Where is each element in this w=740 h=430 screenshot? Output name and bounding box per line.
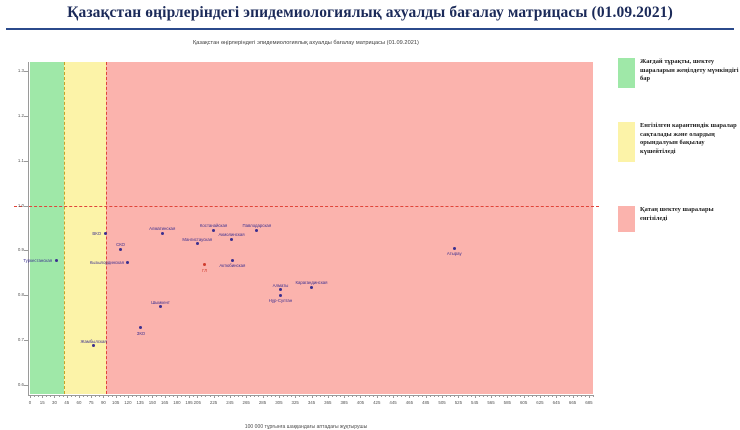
x-tick-minor	[495, 395, 496, 397]
y-tick-mark	[24, 295, 28, 296]
x-tick-minor	[499, 395, 500, 397]
x-tick-minor	[267, 395, 268, 397]
x-tick-minor	[291, 395, 292, 397]
x-tick-minor	[312, 395, 313, 397]
x-tick-minor	[389, 395, 390, 397]
x-tick-minor	[320, 395, 321, 397]
x-tick-label: 625	[531, 400, 549, 406]
x-tick-minor	[59, 395, 60, 397]
x-tick-minor	[573, 395, 574, 397]
x-tick-label: 685	[580, 400, 598, 406]
x-tick-minor	[340, 395, 341, 397]
x-tick-minor	[132, 395, 133, 397]
x-tick-minor	[214, 395, 215, 397]
x-tick-minor	[287, 395, 288, 397]
x-tick-minor	[385, 395, 386, 397]
x-tick-minor	[185, 395, 186, 397]
x-tick-minor	[205, 395, 206, 397]
x-tick-minor	[234, 395, 235, 397]
x-tick-minor	[71, 395, 72, 397]
x-tick-minor	[46, 395, 47, 397]
x-tick-minor	[79, 395, 80, 397]
x-tick-minor	[177, 395, 178, 397]
x-tick-minor	[193, 395, 194, 397]
legend-swatch-green	[618, 58, 635, 88]
x-tick-minor	[250, 395, 251, 397]
x-tick-minor	[307, 395, 308, 397]
x-tick-minor	[263, 395, 264, 397]
x-tick-minor	[161, 395, 162, 397]
y-tick-label: 1.1	[6, 158, 24, 164]
x-tick-minor	[409, 395, 410, 397]
y-tick-mark	[24, 250, 28, 251]
x-tick-minor	[479, 395, 480, 397]
page-title: Қазақстан өңірлеріндегі эпидемиологиялық…	[0, 4, 740, 22]
legend-swatch-yellow	[618, 122, 635, 162]
x-tick-minor	[303, 395, 304, 397]
y-tick-mark	[24, 340, 28, 341]
x-tick-minor	[156, 395, 157, 397]
x-tick-minor	[356, 395, 357, 397]
x-tick-minor	[63, 395, 64, 397]
y-tick-mark	[24, 385, 28, 386]
legend-item-green: Жағдай тұрақты, шектеу шараларын жеңілде…	[618, 58, 740, 88]
data-point-label: Алматинская	[149, 226, 175, 231]
x-tick-minor	[336, 395, 337, 397]
data-point-label: ЗКО	[137, 331, 145, 336]
data-point-label: ГЛ	[202, 268, 207, 273]
band-yellow-zone	[64, 62, 106, 394]
x-tick-label: 285	[254, 400, 272, 406]
x-tick-minor	[430, 395, 431, 397]
y-axis-line	[28, 62, 29, 396]
y-tick-mark	[24, 161, 28, 162]
x-tick-label: 565	[482, 400, 500, 406]
x-tick-minor	[348, 395, 349, 397]
x-tick-minor	[124, 395, 125, 397]
legend-item-red: Қатаң шектеу шаралары енгізіледі	[618, 206, 740, 232]
legend: Жағдай тұрақты, шектеу шараларын жеңілде…	[614, 34, 740, 407]
x-tick-minor	[491, 395, 492, 397]
x-tick-minor	[462, 395, 463, 397]
x-tick-minor	[381, 395, 382, 397]
x-tick-label: 305	[270, 400, 288, 406]
x-tick-minor	[165, 395, 166, 397]
x-tick-label: 445	[384, 400, 402, 406]
x-tick-minor	[536, 395, 537, 397]
x-tick-label: 365	[319, 400, 337, 406]
x-tick-minor	[238, 395, 239, 397]
x-tick-minor	[405, 395, 406, 397]
x-tick-minor	[360, 395, 361, 397]
x-tick-minor	[397, 395, 398, 397]
x-tick-minor	[377, 395, 378, 397]
x-tick-minor	[152, 395, 153, 397]
x-tick-minor	[585, 395, 586, 397]
chart-container: Қазақстан өңірлеріндегі эпидемиологиялық…	[0, 34, 612, 407]
x-tick-minor	[467, 395, 468, 397]
data-point[interactable]	[453, 247, 456, 250]
x-tick-minor	[324, 395, 325, 397]
data-point-label: Павлодарская	[243, 223, 272, 228]
data-point[interactable]	[196, 242, 199, 245]
x-tick-minor	[136, 395, 137, 397]
x-tick-minor	[556, 395, 557, 397]
x-tick-label: 245	[221, 400, 239, 406]
data-point-label: Актюбинская	[219, 263, 245, 268]
x-tick-minor	[279, 395, 280, 397]
x-tick-minor	[112, 395, 113, 397]
x-tick-minor	[422, 395, 423, 397]
x-tick-minor	[507, 395, 508, 397]
data-point[interactable]	[104, 232, 107, 235]
x-tick-minor	[458, 395, 459, 397]
x-tick-minor	[210, 395, 211, 397]
x-tick-minor	[242, 395, 243, 397]
x-tick-label: 525	[449, 400, 467, 406]
x-tick-label: 325	[286, 400, 304, 406]
x-tick-minor	[140, 395, 141, 397]
plot-area: ТуркестанскаяЖамбылскаяВКОСКОКызылординс…	[30, 62, 593, 394]
x-tick-minor	[450, 395, 451, 397]
data-point-label: Кызылординская	[90, 260, 124, 265]
x-tick-minor	[116, 395, 117, 397]
x-tick-minor	[528, 395, 529, 397]
x-tick-minor	[434, 395, 435, 397]
y-tick-label: 0.6	[6, 382, 24, 388]
data-point-label: Костанайская	[200, 223, 227, 228]
x-tick-minor	[373, 395, 374, 397]
x-tick-label: 585	[498, 400, 516, 406]
data-point-label: ВКО	[92, 231, 101, 236]
page-title-text: Қазақстан өңірлеріндегі эпидемиологиялық…	[67, 4, 673, 22]
x-tick-label: 265	[237, 400, 255, 406]
x-tick-minor	[426, 395, 427, 397]
x-tick-minor	[87, 395, 88, 397]
x-tick-minor	[169, 395, 170, 397]
x-tick-minor	[401, 395, 402, 397]
x-tick-minor	[454, 395, 455, 397]
x-tick-minor	[511, 395, 512, 397]
x-tick-minor	[258, 395, 259, 397]
data-point-label: Атырау	[447, 251, 462, 256]
y-tick-mark	[24, 71, 28, 72]
x-tick-minor	[197, 395, 198, 397]
data-point-label: Жамбылская	[81, 339, 107, 344]
x-tick-minor	[222, 395, 223, 397]
x-tick-minor	[418, 395, 419, 397]
y-tick-label: 0.9	[6, 247, 24, 253]
data-point[interactable]	[212, 229, 215, 232]
x-tick-minor	[50, 395, 51, 397]
x-tick-minor	[589, 395, 590, 397]
x-tick-minor	[344, 395, 345, 397]
data-point[interactable]	[279, 294, 282, 297]
x-tick-minor	[275, 395, 276, 397]
x-tick-minor	[442, 395, 443, 397]
x-tick-minor	[438, 395, 439, 397]
x-tick-minor	[316, 395, 317, 397]
y-tick-mark	[24, 116, 28, 117]
y-tick-label: 1.2	[6, 113, 24, 119]
r-equals-one-line	[14, 206, 599, 207]
x-tick-minor	[42, 395, 43, 397]
y-tick-label: 1.3	[6, 68, 24, 74]
x-tick-minor	[181, 395, 182, 397]
x-tick-label: 225	[205, 400, 223, 406]
data-point-label: Шымкент	[151, 300, 170, 305]
x-tick-minor	[120, 395, 121, 397]
x-tick-minor	[38, 395, 39, 397]
legend-label-red: Қатаң шектеу шаралары енгізіледі	[640, 206, 740, 223]
x-tick-minor	[524, 395, 525, 397]
x-tick-minor	[593, 395, 594, 397]
x-tick-minor	[483, 395, 484, 397]
legend-item-yellow: Енгізілген карантиндік шаралар сақталады…	[618, 122, 740, 162]
legend-swatch-red	[618, 206, 635, 232]
x-tick-minor	[99, 395, 100, 397]
x-tick-minor	[83, 395, 84, 397]
data-point[interactable]	[310, 286, 313, 289]
data-point[interactable]	[161, 232, 164, 235]
legend-label-yellow: Енгізілген карантиндік шаралар сақталады…	[640, 122, 740, 156]
x-tick-minor	[352, 395, 353, 397]
x-axis-title: 100 000 тұрғынға шаққандағы аптадағы жұқ…	[0, 424, 612, 430]
x-tick-minor	[369, 395, 370, 397]
y-tick-label: 1.0	[6, 203, 24, 209]
x-tick-minor	[103, 395, 104, 397]
x-tick-minor	[34, 395, 35, 397]
x-tick-minor	[548, 395, 549, 397]
x-tick-minor	[283, 395, 284, 397]
x-tick-minor	[532, 395, 533, 397]
x-tick-minor	[144, 395, 145, 397]
x-tick-minor	[226, 395, 227, 397]
x-tick-minor	[475, 395, 476, 397]
yellow-red-boundary-line	[106, 62, 107, 394]
data-point[interactable]	[55, 259, 58, 262]
x-tick-minor	[413, 395, 414, 397]
data-point-label: Нұр-Султан	[269, 298, 292, 303]
data-point-label: Алматы	[273, 283, 289, 288]
x-tick-minor	[271, 395, 272, 397]
legend-label-green: Жағдай тұрақты, шектеу шараларын жеңілде…	[640, 58, 740, 84]
x-tick-minor	[503, 395, 504, 397]
x-tick-label: 505	[433, 400, 451, 406]
x-tick-minor	[569, 395, 570, 397]
band-green-zone	[30, 62, 64, 394]
data-point[interactable]	[119, 248, 122, 251]
x-tick-minor	[393, 395, 394, 397]
y-tick-label: 0.7	[6, 337, 24, 343]
x-tick-minor	[246, 395, 247, 397]
x-tick-minor	[365, 395, 366, 397]
x-tick-minor	[487, 395, 488, 397]
x-tick-label: 605	[515, 400, 533, 406]
x-tick-minor	[173, 395, 174, 397]
data-point-label: Акмолинская	[218, 232, 244, 237]
x-tick-label: 465	[400, 400, 418, 406]
x-tick-minor	[189, 395, 190, 397]
x-tick-minor	[295, 395, 296, 397]
x-tick-minor	[564, 395, 565, 397]
x-tick-label: 485	[417, 400, 435, 406]
x-tick-minor	[128, 395, 129, 397]
x-tick-minor	[148, 395, 149, 397]
x-tick-minor	[201, 395, 202, 397]
x-tick-minor	[540, 395, 541, 397]
x-tick-minor	[471, 395, 472, 397]
x-tick-minor	[560, 395, 561, 397]
data-point-label: Туркестанская	[23, 258, 52, 263]
y-tick-label: 0.8	[6, 292, 24, 298]
band-red-zone	[106, 62, 593, 394]
x-tick-minor	[230, 395, 231, 397]
x-tick-label: 645	[547, 400, 565, 406]
x-tick-minor	[577, 395, 578, 397]
data-point-label: Мангистауская	[182, 237, 212, 242]
y-tick-mark	[24, 206, 28, 207]
x-tick-minor	[446, 395, 447, 397]
x-tick-label: 345	[303, 400, 321, 406]
x-tick-minor	[218, 395, 219, 397]
x-tick-minor	[328, 395, 329, 397]
title-divider	[6, 28, 734, 30]
x-tick-minor	[91, 395, 92, 397]
x-tick-minor	[520, 395, 521, 397]
x-tick-label: 205	[188, 400, 206, 406]
x-tick-minor	[332, 395, 333, 397]
data-point-label: Карагандинская	[295, 280, 327, 285]
x-tick-minor	[75, 395, 76, 397]
x-tick-minor	[95, 395, 96, 397]
x-tick-label: 425	[368, 400, 386, 406]
x-tick-minor	[552, 395, 553, 397]
data-point-label: СКО	[116, 242, 125, 247]
x-tick-minor	[299, 395, 300, 397]
chart-subtitle: Қазақстан өңірлеріндегі эпидемиологиялық…	[0, 40, 612, 46]
x-tick-label: 405	[351, 400, 369, 406]
data-point[interactable]	[231, 259, 234, 262]
x-tick-label: 385	[335, 400, 353, 406]
green-yellow-boundary-line	[64, 62, 65, 394]
x-tick-label: 545	[466, 400, 484, 406]
data-point[interactable]	[230, 238, 233, 241]
x-tick-minor	[254, 395, 255, 397]
x-tick-minor	[108, 395, 109, 397]
x-tick-minor	[54, 395, 55, 397]
x-tick-minor	[544, 395, 545, 397]
x-tick-minor	[30, 395, 31, 397]
x-tick-minor	[515, 395, 516, 397]
x-tick-label: 665	[564, 400, 582, 406]
x-tick-minor	[67, 395, 68, 397]
x-tick-minor	[581, 395, 582, 397]
